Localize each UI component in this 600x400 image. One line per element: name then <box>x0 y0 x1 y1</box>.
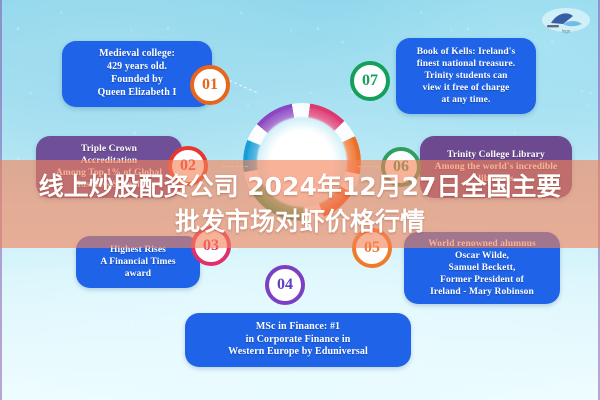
card-03-line-2: A Financial Times <box>100 256 175 268</box>
card-07-line-3: Trinity students can <box>417 70 516 82</box>
card-04-line-1: MSc in Finance: #1 <box>228 321 368 334</box>
headline-line-1: 线上炒股配资公司 2024年12月27日全国主要 <box>39 169 562 204</box>
card-04-line-2: in Corporate Finance in <box>228 334 368 347</box>
step-badge-07: 07 <box>350 61 390 101</box>
card-02-line-1: Triple Crown <box>56 143 162 155</box>
step-badge-01-label: 01 <box>202 76 218 94</box>
headline-line-2: 批发市场对虾价格行情 <box>175 204 425 239</box>
headline-overlay-band: 线上炒股配资公司 2024年12月27日全国主要 批发市场对虾价格行情 <box>0 160 600 248</box>
svg-text:logo: logo <box>562 29 571 34</box>
card-07-line-2: finest national treasure. <box>417 58 516 70</box>
card-04-line-3: Western Europe by Eduniversal <box>228 346 368 359</box>
card-07-line-5: at any time. <box>417 94 516 106</box>
connector-line-01 <box>229 80 257 93</box>
card-07-line-1: Book of Kells: Ireland's <box>417 46 516 58</box>
infographic-canvas: Medieval college: 429 years old. Founded… <box>0 0 600 400</box>
step-badge-01: 01 <box>190 65 230 105</box>
step-badge-07-label: 07 <box>362 72 378 90</box>
card-01-line-1: Medieval college: <box>98 48 177 61</box>
info-card-book-of-kells: Book of Kells: Ireland's finest national… <box>396 38 536 114</box>
card-01-line-4: Queen Elizabeth I <box>98 87 177 100</box>
step-badge-04: 04 <box>265 265 305 305</box>
card-05-line-5: Ireland - Mary Robinson <box>428 286 536 298</box>
card-07-line-4: view it free of charge <box>417 82 516 94</box>
step-badge-04-label: 04 <box>277 276 293 294</box>
card-05-line-2: Oscar Wilde, <box>428 250 536 262</box>
site-watermark-logo: logo <box>540 6 592 36</box>
card-05-line-3: Samuel Beckett, <box>428 262 536 274</box>
card-05-line-4: Former President of <box>428 274 536 286</box>
info-card-medieval-college: Medieval college: 429 years old. Founded… <box>62 41 212 107</box>
card-03-line-3: award <box>100 268 175 280</box>
card-01-line-2: 429 years old. <box>98 61 177 74</box>
info-card-msc-finance: MSc in Finance: #1 in Corporate Finance … <box>185 313 411 367</box>
card-01-line-3: Founded by <box>98 74 177 87</box>
